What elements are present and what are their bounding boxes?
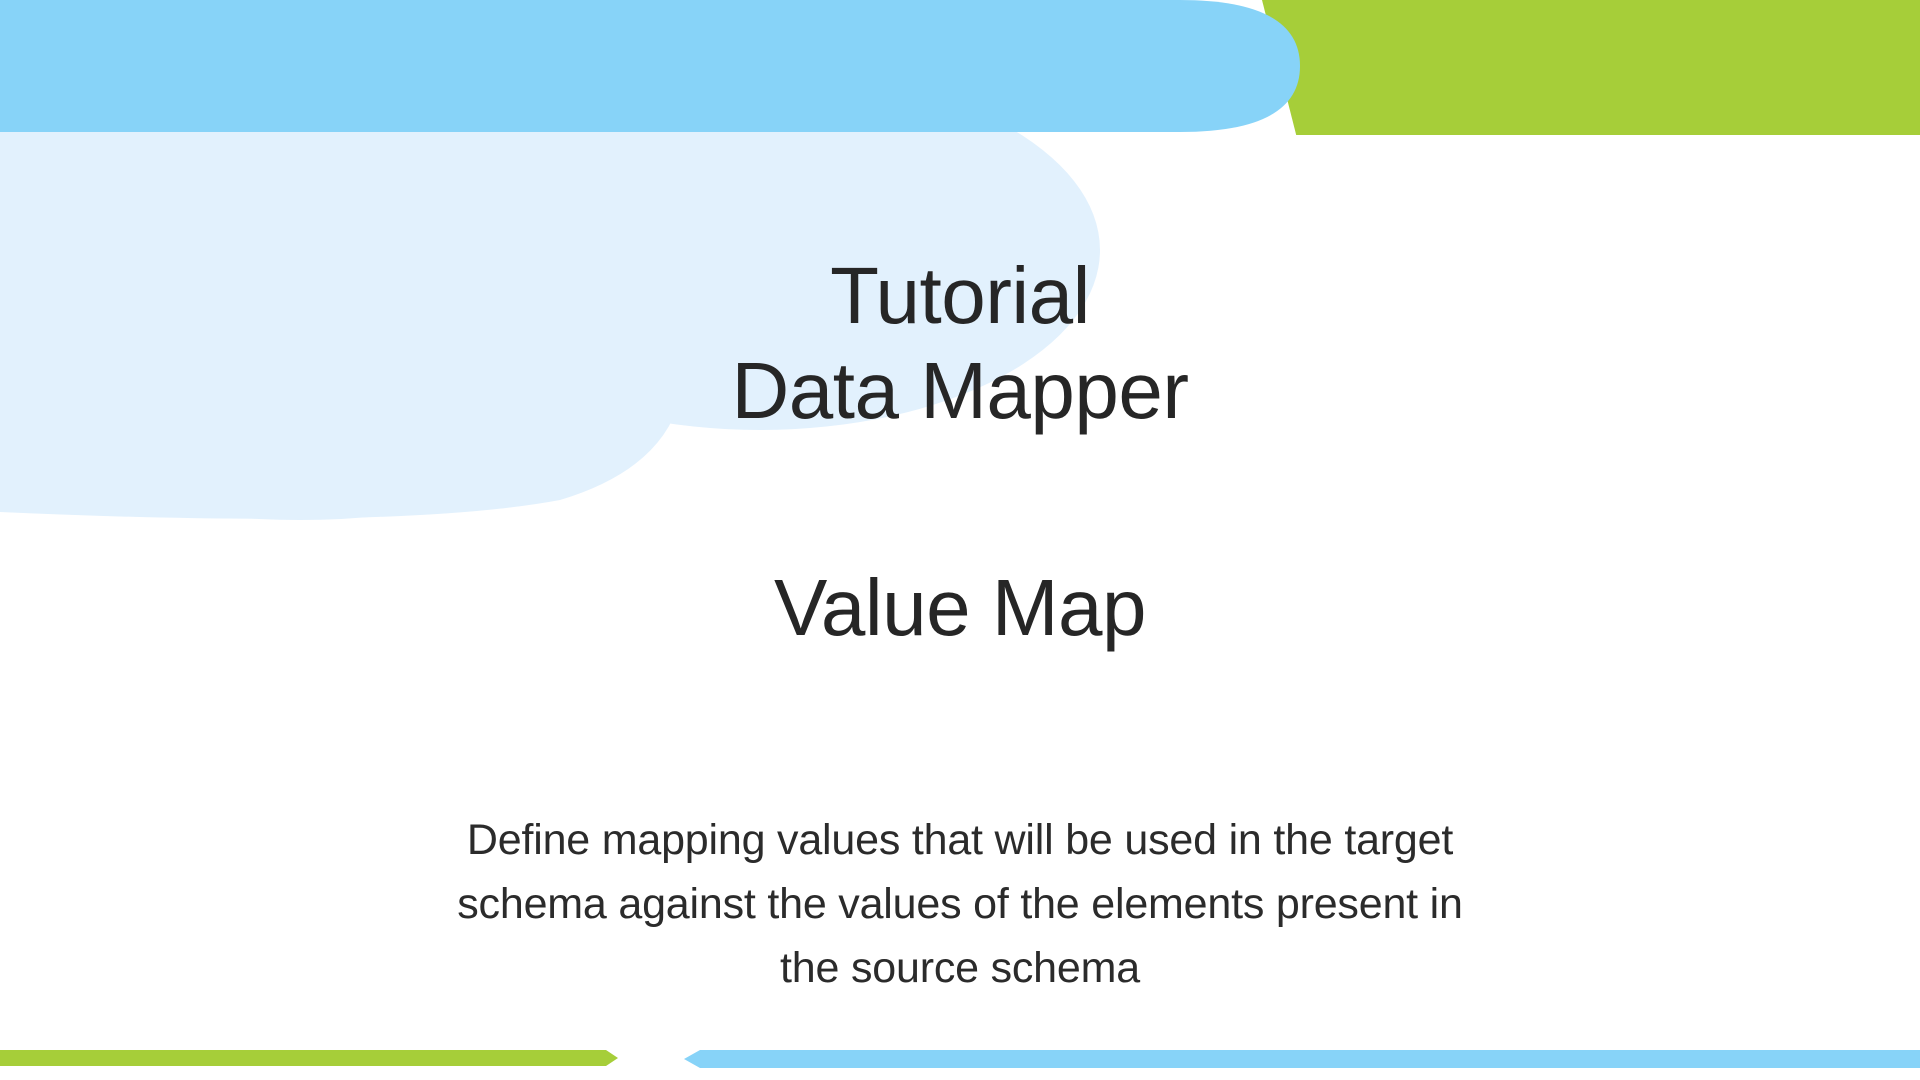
description-line-1: Define mapping values that will be used … [170, 808, 1750, 872]
title-line-2: Data Mapper [0, 343, 1920, 438]
slide-subtitle: Value Map [0, 560, 1920, 655]
slide-description: Define mapping values that will be used … [170, 808, 1750, 1000]
title-line-1: Tutorial [0, 248, 1920, 343]
presentation-slide: Tutorial Data Mapper Value Map Define ma… [0, 0, 1920, 1080]
subtitle-line-1: Value Map [0, 560, 1920, 655]
slide-title: Tutorial Data Mapper [0, 248, 1920, 438]
description-line-3: the source schema [170, 936, 1750, 1000]
description-line-2: schema against the values of the element… [170, 872, 1750, 936]
slide-content: Tutorial Data Mapper Value Map Define ma… [0, 0, 1920, 1080]
